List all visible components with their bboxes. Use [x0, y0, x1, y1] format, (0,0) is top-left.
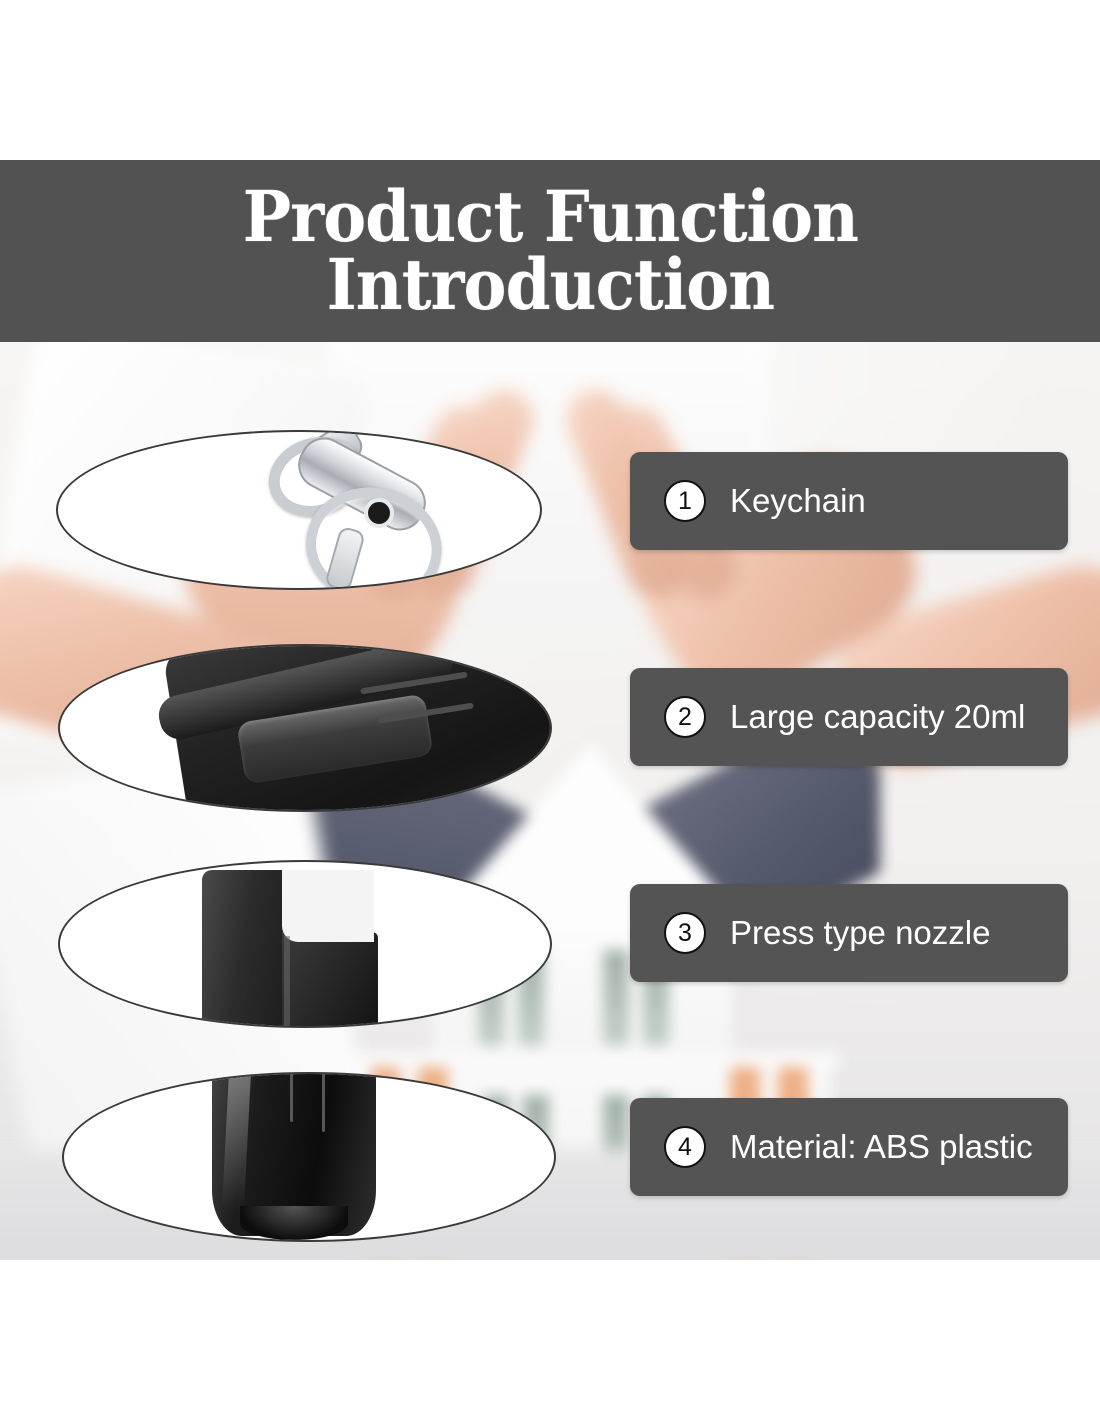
feature-bar-3[interactable]: 3 Press type nozzle: [630, 884, 1068, 982]
callout-oval-keychain: [56, 430, 542, 590]
bottle-slit: [290, 1072, 293, 1122]
feature-bar-1[interactable]: 1 Keychain: [630, 452, 1068, 550]
bottle-foot: [240, 1206, 348, 1240]
page-title: Product Function Introduction: [242, 183, 857, 319]
feature-number-badge-1: 1: [664, 480, 706, 522]
callout-oval-nozzle: [58, 860, 552, 1028]
feature-label-4: Material: ABS plastic: [730, 1128, 1033, 1166]
nozzle-notch: [282, 870, 374, 942]
feature-number-badge-2: 2: [664, 696, 706, 738]
keychain-clasp-icon: [58, 432, 540, 588]
bottle-bottom-icon: [64, 1074, 554, 1240]
feature-number-badge-4: 4: [664, 1126, 706, 1168]
callout-oval-material: [62, 1072, 556, 1242]
press-nozzle-icon: [60, 862, 550, 1026]
bottle-body-icon: [60, 646, 550, 810]
clasp-rivet: [364, 498, 394, 528]
feature-bar-4[interactable]: 4 Material: ABS plastic: [630, 1098, 1068, 1196]
feature-label-1: Keychain: [730, 482, 866, 520]
feature-label-2: Large capacity 20ml: [730, 698, 1025, 736]
feature-label-3: Press type nozzle: [730, 914, 990, 952]
nozzle-side-lip: [282, 932, 378, 1028]
bottle-slit: [322, 1072, 325, 1132]
feature-number-badge-3: 3: [664, 912, 706, 954]
title-banner: Product Function Introduction: [0, 160, 1100, 342]
nozzle-seam: [284, 936, 290, 1028]
feature-bar-2[interactable]: 2 Large capacity 20ml: [630, 668, 1068, 766]
callout-oval-capacity: [58, 644, 552, 812]
